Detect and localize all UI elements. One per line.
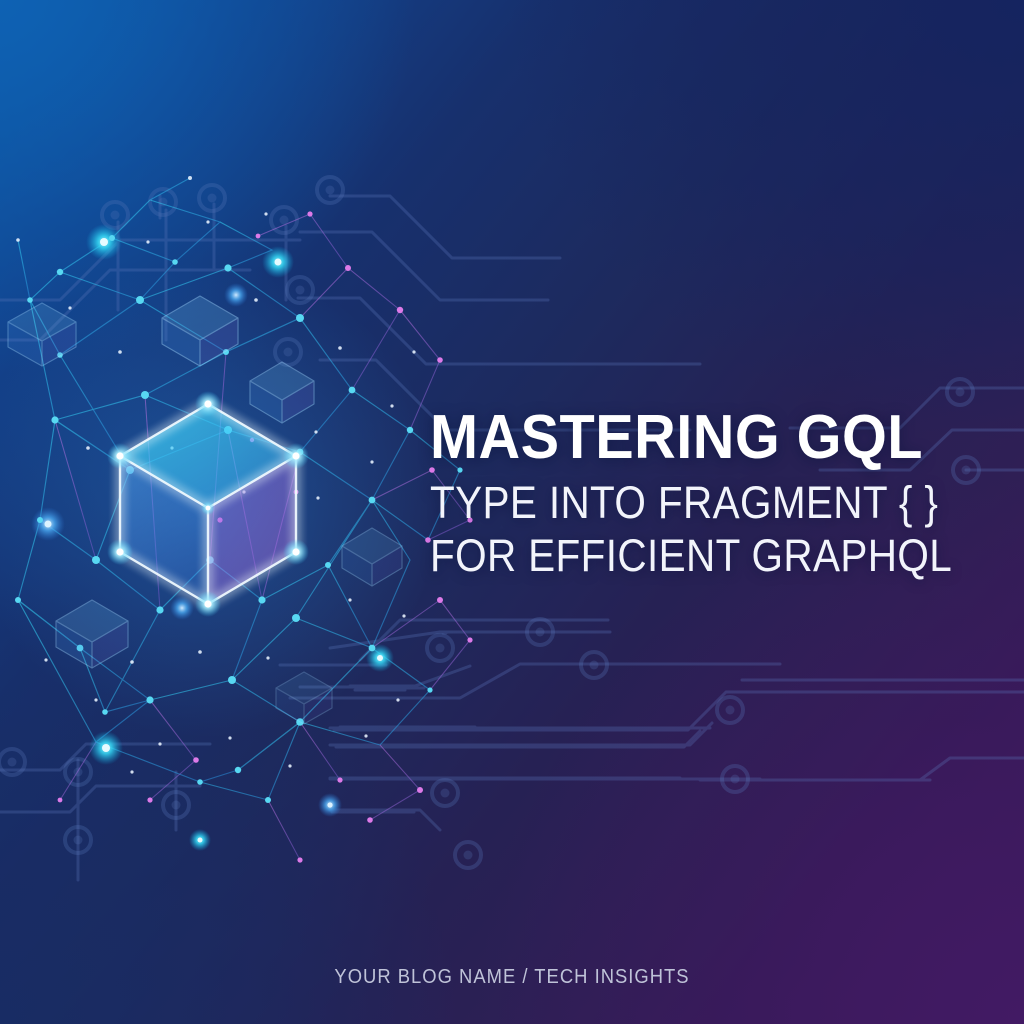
poster-canvas: MASTERING GQL TYPE INTO FRAGMENT { } FOR… bbox=[0, 0, 1024, 1024]
subtitle-line-2: FOR EFFICIENT GRAPHQL bbox=[430, 529, 880, 582]
page-title: MASTERING GQL bbox=[430, 404, 895, 472]
footer-credit: YOUR BLOG NAME / TECH INSIGHTS bbox=[41, 966, 983, 989]
subtitle-line-1: TYPE INTO FRAGMENT { } bbox=[430, 476, 880, 529]
title-block: MASTERING GQL TYPE INTO FRAGMENT { } FOR… bbox=[430, 404, 930, 582]
